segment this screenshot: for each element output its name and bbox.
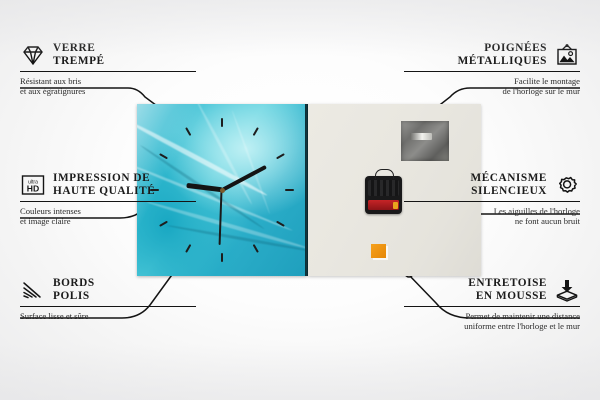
feature-title: MÉCANISME SILENCIEUX xyxy=(471,172,548,197)
feature-entretoise-en-mousse: ENTRETOISE EN MOUSSE Permet de maintenir… xyxy=(404,277,580,332)
ultra-hd-icon: ultra HD xyxy=(20,173,46,197)
feature-desc: Surface lisse et sûre xyxy=(20,311,196,321)
feature-title: POIGNÉES MÉTALLIQUES xyxy=(458,42,547,67)
feature-desc: Permet de maintenir une distance uniform… xyxy=(404,311,580,332)
feature-desc: Couleurs intenses et image claire xyxy=(20,206,196,227)
feature-poignees-metalliques: POIGNÉES MÉTALLIQUES Facilite le montage… xyxy=(404,42,580,97)
feature-title: BORDS POLIS xyxy=(53,277,95,302)
infographic-canvas: VERRE TREMPÉ Résistant aux bris et aux é… xyxy=(0,0,600,400)
feature-title: IMPRESSION DE HAUTE QUALITÉ xyxy=(53,172,155,197)
feature-desc: Résistant aux bris et aux égratignures xyxy=(20,76,196,97)
divider xyxy=(20,306,196,307)
battery xyxy=(368,200,399,210)
framed-picture-hook-icon xyxy=(554,43,580,67)
clock-center-cap xyxy=(220,188,225,193)
feature-mecanisme-silencieux: MÉCANISME SILENCIEUX Les aiguilles de l'… xyxy=(404,172,580,227)
feature-verre-trempe: VERRE TREMPÉ Résistant aux bris et aux é… xyxy=(20,42,196,97)
feature-impression-haute-qualite: ultra HD IMPRESSION DE HAUTE QUALITÉ Cou… xyxy=(20,172,196,227)
divider xyxy=(404,71,580,72)
divider xyxy=(20,201,196,202)
feature-desc: Facilite le montage de l'horloge sur le … xyxy=(404,76,580,97)
feature-bords-polis: BORDS POLIS Surface lisse et sûre xyxy=(20,277,196,321)
svg-text:HD: HD xyxy=(27,183,39,193)
polished-edges-icon xyxy=(20,278,46,302)
feature-title: ENTRETOISE EN MOUSSE xyxy=(468,277,547,302)
mechanism-wire-loop xyxy=(375,169,394,179)
divider xyxy=(404,201,580,202)
quartz-mechanism-box xyxy=(365,176,402,214)
feature-title: VERRE TREMPÉ xyxy=(53,42,105,67)
divider xyxy=(20,71,196,72)
metal-hanger-plate xyxy=(401,121,449,161)
diamond-icon xyxy=(20,43,46,67)
press-down-foam-icon xyxy=(554,278,580,302)
feature-desc: Les aiguilles de l'horloge ne font aucun… xyxy=(404,206,580,227)
gear-icon xyxy=(554,173,580,197)
orange-foam-spacer xyxy=(371,244,386,258)
divider xyxy=(404,306,580,307)
mechanism-label xyxy=(368,180,399,196)
